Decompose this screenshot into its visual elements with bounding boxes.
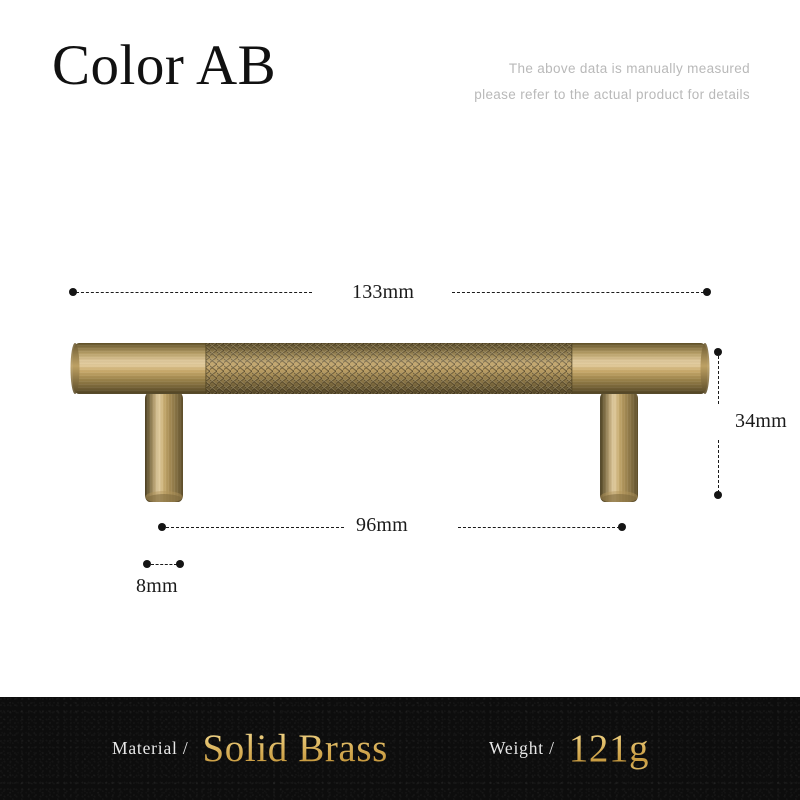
dimension-endpoint-dot	[143, 560, 151, 568]
dimension-label-bar-diameter: 8mm	[136, 575, 178, 598]
dimension-endpoint-dot	[714, 348, 722, 356]
bar-end-cap-left	[71, 343, 80, 394]
dimension-label-overall-length: 133mm	[352, 281, 414, 304]
product-spec-image: Color AB The above data is manually meas…	[0, 0, 800, 800]
handle-post-left	[145, 392, 183, 506]
spec-material-value: Solid Brass	[203, 726, 388, 771]
dimension-endpoint-dot	[176, 560, 184, 568]
dimension-leader-line	[452, 292, 704, 293]
dimension-label-center-to-center: 96mm	[356, 514, 408, 537]
spec-material: Material / Solid Brass	[112, 697, 388, 800]
spec-weight-key: Weight /	[489, 738, 555, 759]
dimension-leader-line	[718, 356, 719, 404]
handle-post-right	[600, 392, 638, 506]
spec-banner: Material / Solid Brass Weight / 121g	[0, 697, 800, 800]
dimension-leader-line	[76, 292, 312, 293]
bar-end-cap-right	[701, 343, 710, 394]
dimension-endpoint-dot	[703, 288, 711, 296]
dimension-leader-line	[718, 440, 719, 493]
spec-weight: Weight / 121g	[489, 697, 649, 800]
knurled-grip	[206, 343, 572, 394]
handle-bar	[71, 343, 710, 394]
dimension-leader-line	[166, 527, 344, 528]
dimension-label-projection-height: 34mm	[735, 410, 787, 433]
dimension-leader-line	[458, 527, 620, 528]
spec-weight-value: 121g	[569, 726, 649, 771]
dimension-endpoint-dot	[158, 523, 166, 531]
handle-illustration	[0, 0, 800, 800]
dimension-endpoint-dot	[714, 491, 722, 499]
dimension-leader-line	[151, 564, 177, 565]
dimension-endpoint-dot	[618, 523, 626, 531]
spec-material-key: Material /	[112, 738, 189, 759]
